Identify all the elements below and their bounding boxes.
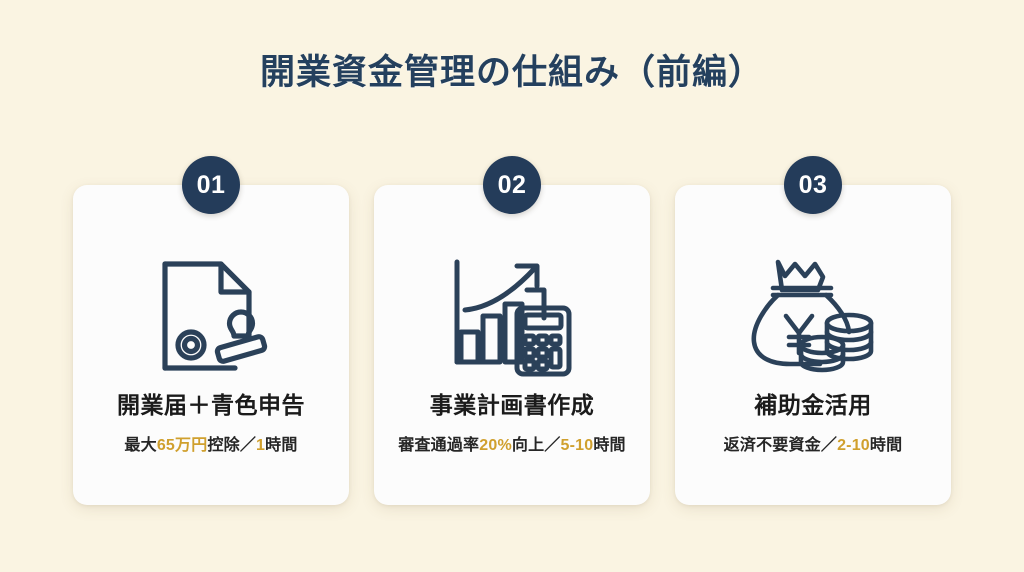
subtitle-part: 審査通過率 — [398, 437, 479, 454]
subtitle-part: 最大 — [124, 437, 156, 454]
step-badge-02: 02 — [483, 156, 541, 214]
step-badge-03: 03 — [784, 156, 842, 214]
growth-chart-calculator-icon — [447, 247, 577, 382]
card-subtitle-01: 最大65万円控除／1時間 — [124, 431, 297, 455]
subtitle-part: 返済不要資金／ — [724, 437, 837, 454]
card-subtitle-02: 審査通過率20%向上／5-10時間 — [398, 431, 625, 455]
subtitle-highlight: 1 — [256, 437, 265, 454]
document-stamp-icon — [151, 247, 271, 382]
step-badge-01: 01 — [182, 156, 240, 214]
subtitle-part: 控除／ — [207, 437, 256, 454]
card-title-03: 補助金活用 — [754, 386, 872, 420]
card-row: 01 開業届＋青色申告 最大65万円控除／1時間 02 — [73, 185, 951, 505]
money-bag-yen-coins-icon — [748, 247, 878, 382]
subtitle-part: 時間 — [593, 437, 625, 454]
subtitle-highlight: 5-10 — [561, 437, 594, 454]
subtitle-part: 時間 — [870, 437, 902, 454]
page-title: 開業資金管理の仕組み（前編） — [0, 44, 1024, 95]
card-title-01: 開業届＋青色申告 — [117, 386, 305, 420]
step-card-02[interactable]: 02 — [374, 185, 650, 505]
step-card-01[interactable]: 01 開業届＋青色申告 最大65万円控除／1時間 — [73, 185, 349, 505]
card-subtitle-03: 返済不要資金／2-10時間 — [724, 431, 903, 455]
subtitle-highlight: 2-10 — [837, 437, 870, 454]
card-title-02: 事業計画書作成 — [430, 386, 595, 420]
subtitle-part: 向上／ — [512, 437, 561, 454]
subtitle-highlight: 20% — [479, 437, 512, 454]
subtitle-part: 時間 — [265, 437, 297, 454]
subtitle-highlight: 65万円 — [157, 437, 208, 454]
step-card-03[interactable]: 03 — [675, 185, 951, 505]
